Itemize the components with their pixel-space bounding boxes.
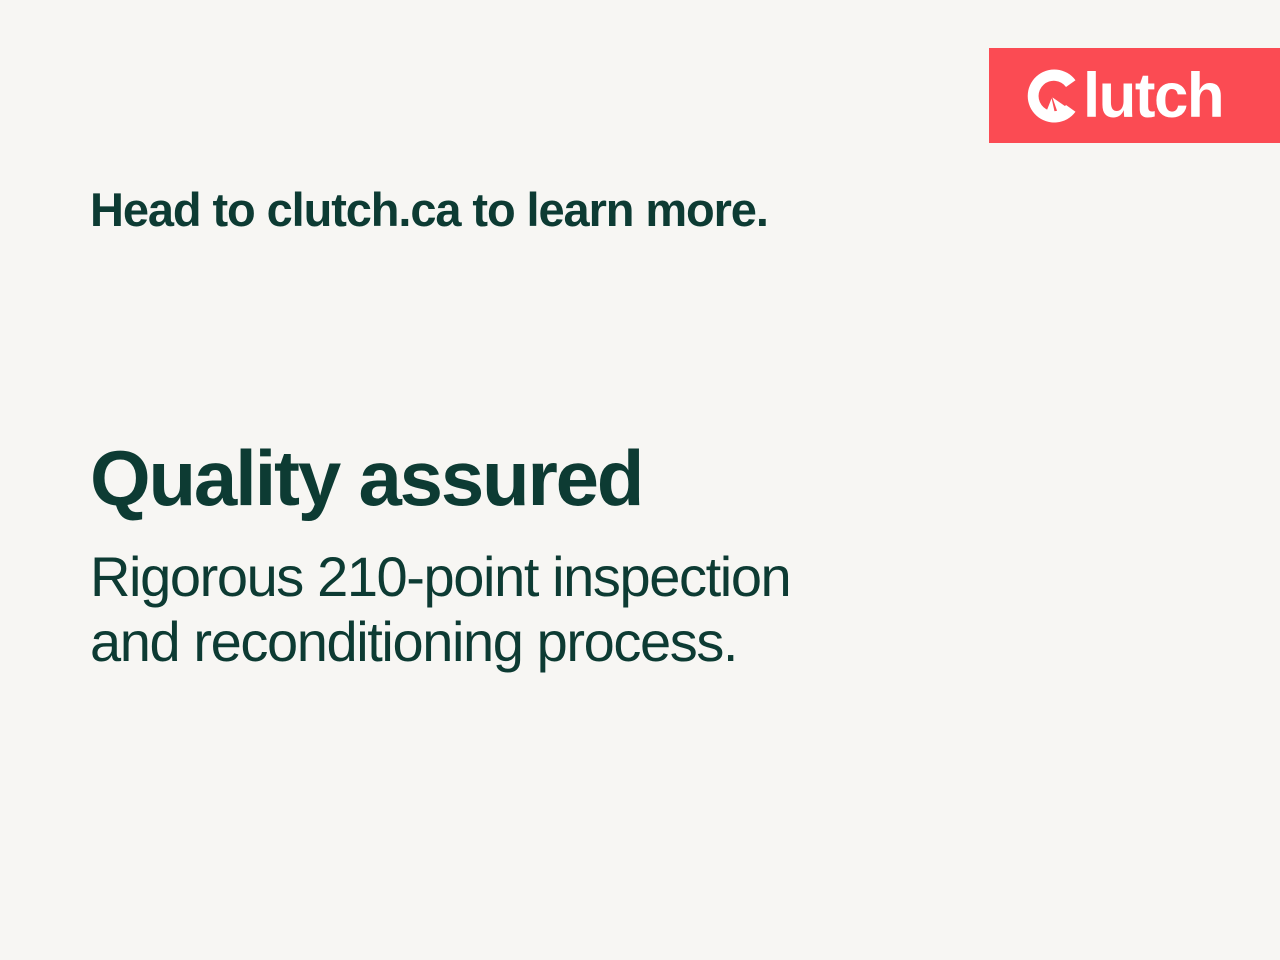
subcopy-block: Rigorous 210-point inspection and recond… — [90, 544, 790, 674]
slide-canvas: lutch Head to clutch.ca to learn more. Q… — [0, 0, 1280, 960]
subcopy-line-2: and reconditioning process. — [90, 609, 790, 674]
clutch-c-icon — [1025, 67, 1081, 125]
subcopy-line-1: Rigorous 210-point inspection — [90, 544, 790, 609]
kicker-text: Head to clutch.ca to learn more. — [90, 182, 768, 237]
clutch-logo-badge[interactable]: lutch — [989, 48, 1280, 143]
clutch-logo-lockup: lutch — [1025, 67, 1226, 125]
clutch-wordmark: lutch — [1083, 67, 1223, 125]
page-title: Quality assured — [90, 436, 642, 520]
